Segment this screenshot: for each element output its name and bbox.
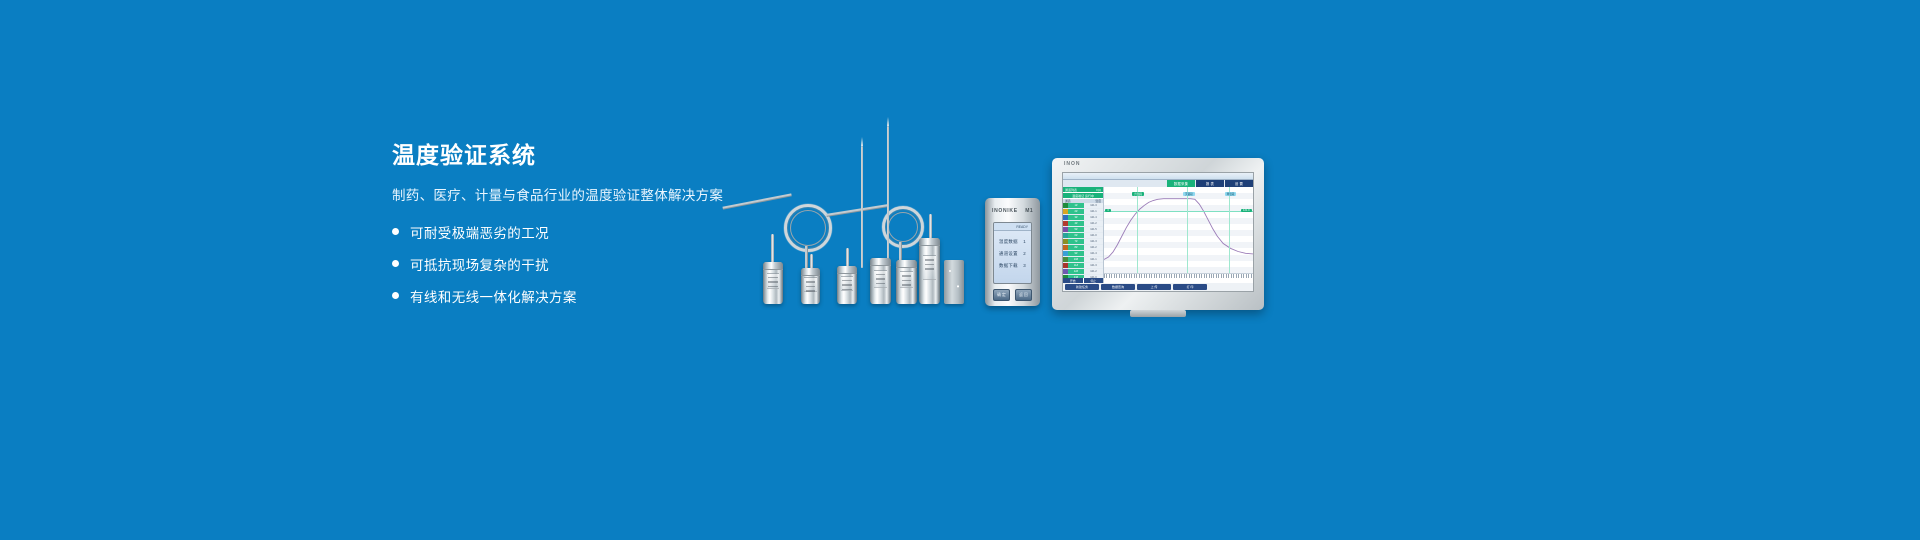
axis-tick: [1248, 274, 1249, 278]
cell-temperature: 121.3: [1084, 263, 1103, 268]
toolbar-spacer: [1209, 284, 1251, 290]
axis-tick: [1146, 274, 1147, 278]
tab-data-collection[interactable]: 数据采集: [1167, 180, 1195, 187]
probe-wire: [722, 193, 791, 208]
axis-tick: [1106, 274, 1107, 278]
monitor-brand: INON: [1064, 161, 1081, 167]
lcd-menu-item[interactable]: 数据下载 3: [999, 263, 1026, 269]
setpoint-line: [1104, 211, 1253, 212]
logger-label: [900, 271, 913, 288]
probe-coil-icon: [784, 204, 832, 252]
axis-tick: [1116, 274, 1117, 278]
software-toolbar[interactable]: 新建任务 数据查询 上 传 打 印: [1063, 283, 1253, 291]
query-data-button[interactable]: 数据查询: [1101, 284, 1135, 290]
axis-tick: [1149, 274, 1150, 278]
cell-temperature: 121.4: [1084, 215, 1103, 220]
axis-tick: [1134, 274, 1135, 278]
monitor-stand: [1130, 310, 1186, 317]
handheld-brandbar: INONIKE M1: [985, 205, 1040, 217]
channel-panel: 通道列表 F(t) 温度验证 运行中 通道 温度 1#121.3 2#121.1…: [1063, 187, 1104, 283]
tab-report[interactable]: 报 表: [1196, 180, 1224, 187]
axis-tick: [1209, 274, 1210, 278]
axis-tick: [1169, 274, 1170, 278]
phase-marker-line: [1187, 187, 1188, 273]
confirm-button[interactable]: 确 定: [993, 289, 1010, 301]
axis-tick: [1176, 274, 1177, 278]
axis-tick: [1121, 274, 1122, 278]
logger-stem: [846, 248, 849, 268]
bullet-dot-icon: [392, 228, 399, 235]
cell-channel: 2#: [1068, 209, 1084, 214]
logger-cap: [919, 238, 940, 246]
axis-tick: [1104, 274, 1105, 278]
feature-label: 可抵抗现场复杂的干扰: [410, 254, 549, 274]
data-logger: [919, 238, 940, 304]
lcd-menu-value: 2: [1023, 251, 1026, 257]
cell-channel: 11#: [1068, 263, 1084, 268]
cell-channel: 1#: [1068, 203, 1084, 208]
lcd-statusbar: READY: [994, 223, 1031, 231]
axis-tick: [1154, 274, 1155, 278]
logger-label: [804, 277, 816, 291]
axis-tick: [1241, 274, 1242, 278]
axis-tick: [1181, 274, 1182, 278]
cell-channel: 7#: [1068, 239, 1084, 244]
data-logger: [763, 262, 783, 304]
axis-tick: [1114, 274, 1115, 278]
handheld-model: M1: [1025, 208, 1033, 214]
software-body: 通道列表 F(t) 温度验证 运行中 通道 温度 1#121.3 2#121.1…: [1063, 187, 1253, 283]
new-task-button[interactable]: 新建任务: [1065, 284, 1099, 290]
software-screen[interactable]: 数据采集 报 表 设 置 通道列表 F(t) 温度验证 运行中 通道: [1062, 172, 1254, 292]
axis-tick: [1184, 274, 1185, 278]
cell-channel: 10#: [1068, 257, 1084, 262]
axis-tick: [1196, 274, 1197, 278]
cell-temperature: 121.3: [1084, 203, 1103, 208]
axis-tick: [1218, 274, 1219, 278]
cell-channel: 8#: [1068, 245, 1084, 250]
tab-settings[interactable]: 设 置: [1225, 180, 1253, 187]
axis-tick: [1236, 274, 1237, 278]
software-tabbar[interactable]: 数据采集 报 表 设 置: [1063, 180, 1253, 187]
axis-tick: [1238, 274, 1239, 278]
probe-wire: [826, 204, 887, 215]
needle-probe-icon: [887, 126, 889, 266]
axis-tick: [1139, 274, 1140, 278]
axis-tick: [1251, 274, 1252, 278]
axis-tick: [1189, 274, 1190, 278]
axis-tick: [1191, 274, 1192, 278]
software-titlebar: [1063, 173, 1253, 180]
lcd-menu-label: 数据下载: [999, 263, 1018, 269]
axis-tick: [1201, 274, 1202, 278]
axis-tick: [1111, 274, 1112, 278]
cell-channel: 6#: [1068, 233, 1084, 238]
cell-temperature: 121.1: [1084, 209, 1103, 214]
chart-panel: 升温段 灭菌段 降温段 121.0 0: [1104, 187, 1253, 283]
bullet-dot-icon: [392, 292, 399, 299]
axis-tick: [1228, 274, 1229, 278]
back-button[interactable]: 返 回: [1015, 289, 1032, 301]
print-button[interactable]: 打 印: [1173, 284, 1207, 290]
logger-cap: [801, 268, 820, 276]
cell-temperature: 121.0: [1084, 233, 1103, 238]
annotation-sterilize: 灭菌段: [1183, 192, 1195, 196]
cell-channel: 4#: [1068, 221, 1084, 226]
axis-tick: [1129, 274, 1130, 278]
axis-tick: [1216, 274, 1217, 278]
channel-panel-subheader: 温度验证 运行中: [1063, 193, 1103, 198]
axis-tick: [1126, 274, 1127, 278]
cell-temperature: 121.4: [1084, 251, 1103, 256]
axis-tick: [1233, 274, 1234, 278]
sintered-filter-probe: [944, 260, 964, 304]
lcd-menu-item[interactable]: 通道设置 2: [999, 251, 1026, 257]
axis-tick: [1166, 274, 1167, 278]
feature-label: 可耐受极端恶劣的工况: [410, 222, 549, 242]
axis-tick: [1131, 274, 1132, 278]
axis-tick: [1159, 274, 1160, 278]
industrial-monitor: INON 数据采集 报 表 设 置 通道列表 F(t): [1052, 158, 1264, 310]
cell-channel: 12#: [1068, 269, 1084, 274]
cell-temperature: 121.2: [1084, 269, 1103, 274]
axis-tick: [1151, 274, 1152, 278]
axis-tick: [1124, 274, 1125, 278]
cell-temperature: 121.2: [1084, 221, 1103, 226]
lcd-menu-item[interactable]: 温度数据 1: [999, 239, 1026, 245]
cell-temperature: 121.5: [1084, 227, 1103, 232]
lcd-menu-label: 通道设置: [999, 251, 1018, 257]
logger-label: [841, 276, 854, 291]
axis-tick: [1199, 274, 1200, 278]
cell-channel: 5#: [1068, 227, 1084, 232]
axis-tick: [1161, 274, 1162, 278]
chart-curve-svg: [1104, 187, 1253, 273]
lcd-menu: 温度数据 1 通道设置 2 数据下载 3: [994, 231, 1031, 269]
data-logger: [837, 266, 857, 304]
channel-panel-metric: F(t): [1096, 188, 1101, 192]
axis-tick: [1223, 274, 1224, 278]
axis-tick: [1156, 274, 1157, 278]
logger-stem: [771, 234, 774, 264]
annotation-setpoint-value: 121.0: [1241, 209, 1252, 212]
axis-tick: [1186, 274, 1187, 278]
axis-tick: [1204, 274, 1205, 278]
channel-list[interactable]: 1#121.3 2#121.1 3#121.4 4#121.2 5#121.5 …: [1063, 203, 1103, 278]
annotation-cool-down: 降温段: [1225, 192, 1237, 196]
axis-tick: [1231, 274, 1232, 278]
axis-tick: [1136, 274, 1137, 278]
annotation-origin: 0: [1105, 209, 1110, 212]
axis-tick: [1226, 274, 1227, 278]
axis-tick: [1141, 274, 1142, 278]
logger-cap: [896, 260, 917, 268]
axis-tick: [1246, 274, 1247, 278]
axis-tick: [1213, 274, 1214, 278]
logger-label: [874, 270, 887, 288]
phase-marker-line: [1229, 187, 1230, 273]
logger-cap: [763, 262, 783, 270]
axis-tick: [1164, 274, 1165, 278]
lcd-menu-label: 温度数据: [999, 239, 1018, 245]
handheld-reader[interactable]: INONIKE M1 READY 温度数据 1 通道设置 2: [985, 198, 1040, 306]
axis-tick: [1144, 274, 1145, 278]
data-logger: [870, 258, 891, 304]
axis-tick: [1194, 274, 1195, 278]
lcd-menu-value: 3: [1023, 263, 1026, 269]
logger-label: [767, 273, 780, 289]
axis-tick: [1221, 274, 1222, 278]
logger-label: [923, 255, 936, 279]
axis-tick: [1171, 274, 1172, 278]
upload-button[interactable]: 上 传: [1137, 284, 1171, 290]
chart-x-axis: [1104, 273, 1253, 283]
cell-channel: 9#: [1068, 251, 1084, 256]
handheld-keypad[interactable]: 确 定 返 回: [993, 289, 1032, 301]
axis-tick: [1206, 274, 1207, 278]
product-scene: INONIKE M1 READY 温度数据 1 通道设置 2: [700, 110, 1260, 340]
cell-temperature: 121.3: [1084, 239, 1103, 244]
channel-panel-header: 通道列表 F(t): [1063, 187, 1103, 192]
axis-tick: [1243, 274, 1244, 278]
temperature-chart[interactable]: 升温段 灭菌段 降温段 121.0 0: [1104, 187, 1253, 273]
logger-cap: [837, 266, 857, 274]
axis-tick: [1174, 274, 1175, 278]
data-logger: [896, 260, 917, 304]
axis-tick: [1119, 274, 1120, 278]
cell-temperature: 121.1: [1084, 257, 1103, 262]
handheld-brand: INONIKE: [992, 208, 1018, 214]
data-logger: [801, 268, 820, 304]
axis-tick: [1211, 274, 1212, 278]
tabbar-spacer: [1063, 180, 1166, 187]
lcd-menu-value: 1: [1023, 239, 1026, 245]
annotation-ramp-up: 升温段: [1132, 192, 1144, 196]
hero-banner: 温度验证系统 制药、医疗、计量与食品行业的温度验证整体解决方案 可耐受极端恶劣的…: [0, 0, 1920, 540]
cell-channel: 3#: [1068, 215, 1084, 220]
cell-temperature: 121.2: [1084, 245, 1103, 250]
logger-cap: [870, 258, 891, 266]
channel-panel-title: 通道列表: [1065, 188, 1077, 192]
feature-label: 有线和无线一体化解决方案: [410, 286, 577, 306]
axis-tick: [1179, 274, 1180, 278]
handheld-lcd: READY 温度数据 1 通道设置 2 数据下载 3: [993, 222, 1032, 284]
lcd-status: READY: [1016, 225, 1028, 229]
phase-marker-line: [1137, 187, 1138, 273]
axis-tick: [1109, 274, 1110, 278]
bullet-dot-icon: [392, 260, 399, 267]
